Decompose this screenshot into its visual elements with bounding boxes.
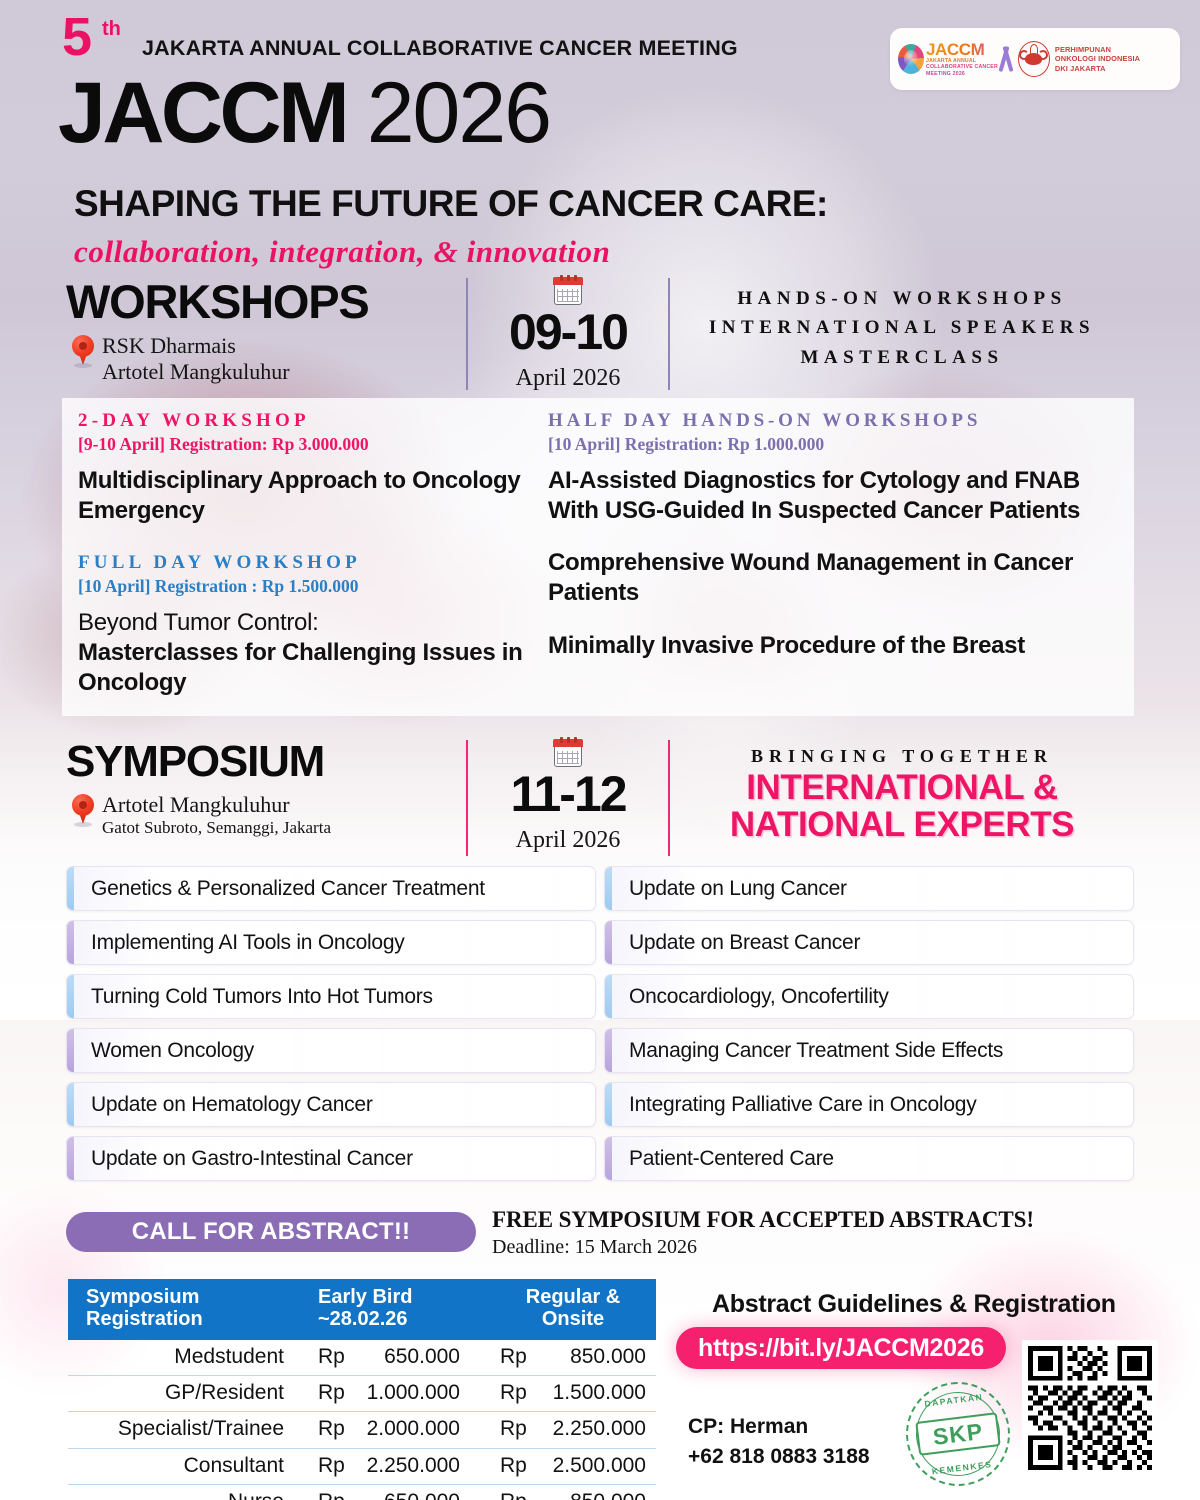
topic-pill[interactable]: Integrating Palliative Care in Oncology	[604, 1082, 1134, 1127]
logo-card: JACCM JAKARTA ANNUAL COLLABORATIVE CANCE…	[890, 28, 1180, 90]
half-day-workshop-registration: [10 April] Registration: Rp 1.000.000	[548, 434, 1118, 456]
abstract-deadline: Deadline: 15 March 2026	[492, 1236, 1034, 1259]
row-regular-currency: Rp	[490, 1376, 536, 1412]
call-for-abstract-note: FREE SYMPOSIUM FOR ACCEPTED ABSTRACTS! D…	[492, 1207, 1034, 1259]
row-regular-amount: 2.250.000	[536, 1412, 656, 1448]
topic-label: Update on Lung Cancer	[619, 877, 847, 901]
row-category: Consultant	[68, 1448, 300, 1484]
full-day-workshop-title: Masterclasses for Challenging Issues in …	[78, 638, 526, 698]
half-day-workshop-label: HALF DAY HANDS-ON WORKSHOPS	[548, 410, 1118, 433]
call-for-abstract-badge[interactable]: CALL FOR ABSTRACT!!	[66, 1212, 476, 1252]
header-category-line2: Registration	[86, 1308, 290, 1330]
two-day-workshop-registration: [9-10 April] Registration: Rp 3.000.000	[78, 434, 526, 456]
symposium-title: SYMPOSIUM	[66, 740, 466, 784]
workshops-highlight-1: INTERNATIONAL SPEAKERS	[670, 313, 1134, 342]
event-tagline: SHAPING THE FUTURE OF CANCER CARE:	[74, 183, 828, 225]
topic-pill[interactable]: Oncocardiology, Oncofertility	[604, 974, 1134, 1019]
topic-label: Patient-Centered Care	[619, 1147, 834, 1171]
workshops-highlight-2: MASTERCLASS	[670, 343, 1134, 372]
header-category-line1: Symposium	[86, 1286, 290, 1308]
full-day-workshop-registration: [10 April] Registration : Rp 1.500.000	[78, 576, 526, 598]
edition-ordinal-suffix: th	[102, 18, 121, 41]
full-day-workshop-label: FULL DAY WORKSHOP	[78, 552, 526, 575]
table-header-early-bird: Early Bird ~28.02.26	[300, 1279, 490, 1340]
table-body: Medstudent Rp 650.000 Rp 850.000 GP/Resi…	[68, 1340, 656, 1500]
jaccm-logo-line3: MEETING 2026	[926, 72, 998, 77]
two-day-workshop-title: Multidisciplinary Approach to Oncology E…	[78, 466, 526, 526]
table-header: Symposium Registration Early Bird ~28.02…	[68, 1279, 656, 1340]
topic-pill[interactable]: Genetics & Personalized Cancer Treatment	[66, 866, 596, 911]
conference-poster: 5 th JAKARTA ANNUAL COLLABORATIVE CANCER…	[0, 0, 1200, 1500]
poi-logo: PERHIMPUNAN ONKOLOGI INDONESIA DKI JAKAR…	[1018, 41, 1140, 77]
symposium-highlights: BRINGING TOGETHER INTERNATIONAL & NATION…	[670, 740, 1134, 856]
row-early-amount: 2.000.000	[346, 1412, 490, 1448]
topic-pill[interactable]: Update on Gastro-Intestinal Cancer	[66, 1136, 596, 1181]
row-regular-currency: Rp	[490, 1448, 536, 1484]
skp-band: SKP	[915, 1412, 1001, 1456]
row-early-currency: Rp	[300, 1484, 346, 1500]
row-early-currency: Rp	[300, 1340, 346, 1376]
free-symposium-text: FREE SYMPOSIUM FOR ACCEPTED ABSTRACTS!	[492, 1207, 1034, 1233]
awareness-ribbon-icon	[1001, 44, 1012, 74]
workshops-right-column: HALF DAY HANDS-ON WORKSHOPS [10 April] R…	[542, 398, 1134, 716]
topic-label: Update on Hematology Cancer	[81, 1093, 373, 1117]
workshops-month-year: April 2026	[468, 365, 668, 392]
topic-pill[interactable]: Update on Hematology Cancer	[66, 1082, 596, 1127]
header-early-line1: Early Bird	[318, 1286, 480, 1308]
skp-stamp-inner: DAPATKAN SKP KEMENKES	[911, 1387, 1005, 1481]
row-category: GP/Resident	[68, 1376, 300, 1412]
topic-label: Implementing AI Tools in Oncology	[81, 931, 405, 955]
row-early-currency: Rp	[300, 1376, 346, 1412]
contact-person-name: CP: Herman	[688, 1412, 870, 1442]
topic-label: Integrating Palliative Care in Oncology	[619, 1093, 976, 1117]
calendar-icon	[554, 278, 582, 305]
contact-person-block: CP: Herman +62 818 0883 3188	[688, 1412, 870, 1473]
qr-code-image	[1028, 1346, 1152, 1470]
row-early-currency: Rp	[300, 1448, 346, 1484]
table-header-row: Symposium Registration Early Bird ~28.02…	[68, 1279, 656, 1340]
table-row: Specialist/Trainee Rp 2.000.000 Rp 2.250…	[68, 1412, 656, 1448]
row-category: Medstudent	[68, 1340, 300, 1376]
header-early-line2: ~28.02.26	[318, 1308, 480, 1330]
row-regular-amount: 2.500.000	[536, 1448, 656, 1484]
crab-icon	[1025, 53, 1042, 65]
workshops-detail-panel: 2-DAY WORKSHOP [9-10 April] Registration…	[62, 398, 1134, 716]
wordmark-year: 2026	[367, 65, 550, 161]
skp-center-text: SKP	[931, 1418, 984, 1451]
row-regular-amount: 850.000	[536, 1340, 656, 1376]
topic-pill[interactable]: Managing Cancer Treatment Side Effects	[604, 1028, 1134, 1073]
row-regular-currency: Rp	[490, 1340, 536, 1376]
location-pin-icon	[72, 335, 94, 365]
symposium-month-year: April 2026	[468, 827, 668, 854]
jaccm-logo-line2: COLLABORATIVE CANCER	[926, 65, 998, 70]
row-regular-amount: 850.000	[536, 1484, 656, 1500]
row-early-amount: 2.250.000	[346, 1448, 490, 1484]
half-day-workshop-item-0: AI-Assisted Diagnostics for Cytology and…	[548, 466, 1118, 526]
skp-top-text: DAPATKAN	[913, 1390, 996, 1410]
row-regular-currency: Rp	[490, 1484, 536, 1500]
row-category: Nurse	[68, 1484, 300, 1500]
event-subtagline: collaboration, integration, & innovation	[74, 234, 610, 270]
registration-price-table: Symposium Registration Early Bird ~28.02…	[68, 1279, 656, 1500]
topic-label: Oncocardiology, Oncofertility	[619, 985, 889, 1009]
jaccm-logo-text: JACCM JAKARTA ANNUAL COLLABORATIVE CANCE…	[926, 41, 998, 77]
table-row: GP/Resident Rp 1.000.000 Rp 1.500.000	[68, 1376, 656, 1412]
poi-line1: PERHIMPUNAN	[1055, 45, 1140, 54]
workshops-date: 09-10	[468, 307, 668, 357]
row-early-amount: 650.000	[346, 1340, 490, 1376]
event-wordmark: JACCM 2026	[58, 70, 550, 156]
workshops-title: WORKSHOPS	[66, 278, 466, 325]
full-day-workshop-subtitle: Beyond Tumor Control:	[78, 608, 526, 638]
topic-label: Update on Breast Cancer	[619, 931, 860, 955]
symposium-experts-line1: INTERNATIONAL &	[670, 769, 1134, 806]
qr-code[interactable]	[1022, 1340, 1158, 1476]
edition-number: 5	[62, 10, 90, 64]
half-day-workshop-item-2: Minimally Invasive Procedure of the Brea…	[548, 631, 1118, 661]
symposium-experts-line2: NATIONAL EXPERTS	[670, 806, 1134, 843]
topic-pill[interactable]: Update on Breast Cancer	[604, 920, 1134, 965]
row-regular-currency: Rp	[490, 1412, 536, 1448]
call-for-abstract-label: CALL FOR ABSTRACT!!	[132, 1218, 410, 1246]
two-day-workshop-block: 2-DAY WORKSHOP [9-10 April] Registration…	[78, 410, 526, 526]
workshops-date-block: 09-10 April 2026	[468, 278, 668, 390]
calendar-icon	[554, 740, 582, 767]
registration-link-button[interactable]: https://bit.ly/JACCM2026	[676, 1327, 1006, 1369]
symposium-date-block: 11-12 April 2026	[468, 740, 668, 856]
symposium-venue: Artotel Mangkuluhur Gatot Subroto, Seman…	[72, 792, 466, 838]
table-header-category: Symposium Registration	[68, 1279, 300, 1340]
topic-pill[interactable]: Women Oncology	[66, 1028, 596, 1073]
symposium-section-header: SYMPOSIUM Artotel Mangkuluhur Gatot Subr…	[66, 740, 1134, 856]
workshops-venue-line2: Artotel Mangkuluhur	[102, 359, 290, 385]
row-category: Specialist/Trainee	[68, 1412, 300, 1448]
topic-label: Update on Gastro-Intestinal Cancer	[81, 1147, 413, 1171]
poi-line3: DKI JAKARTA	[1055, 64, 1140, 73]
symposium-venue-line2: Gatot Subroto, Semanggi, Jakarta	[102, 818, 331, 838]
header-regular-line1: Regular &	[500, 1286, 646, 1308]
abstract-registration-heading: Abstract Guidelines & Registration	[712, 1290, 1116, 1319]
symposium-date: 11-12	[468, 769, 668, 819]
registration-link-label: https://bit.ly/JACCM2026	[698, 1334, 984, 1363]
workshops-title-block: WORKSHOPS RSK Dharmais Artotel Mangkuluh…	[66, 278, 466, 390]
event-kicker: JAKARTA ANNUAL COLLABORATIVE CANCER MEET…	[142, 36, 738, 61]
location-pin-icon	[72, 794, 94, 824]
topic-pill[interactable]: Update on Lung Cancer	[604, 866, 1134, 911]
poi-logo-text: PERHIMPUNAN ONKOLOGI INDONESIA DKI JAKAR…	[1055, 45, 1140, 73]
workshops-left-column: 2-DAY WORKSHOP [9-10 April] Registration…	[62, 398, 542, 716]
row-early-amount: 650.000	[346, 1484, 490, 1500]
table-row: Consultant Rp 2.250.000 Rp 2.500.000	[68, 1448, 656, 1484]
workshops-highlight-0: HANDS-ON WORKSHOPS	[670, 284, 1134, 313]
header-regular-line2: Onsite	[500, 1308, 646, 1330]
globe-icon	[898, 44, 924, 74]
topic-label: Genetics & Personalized Cancer Treatment	[81, 877, 485, 901]
wordmark-acronym: JACCM	[58, 65, 346, 161]
symposium-venue-line1: Artotel Mangkuluhur	[102, 792, 331, 818]
topic-pill[interactable]: Implementing AI Tools in Oncology	[66, 920, 596, 965]
symposium-bringing-together: BRINGING TOGETHER	[670, 746, 1134, 767]
half-day-workshop-item-1: Comprehensive Wound Management in Cancer…	[548, 548, 1118, 608]
topic-label: Women Oncology	[81, 1039, 254, 1063]
workshops-section-header: WORKSHOPS RSK Dharmais Artotel Mangkuluh…	[66, 278, 1134, 390]
topic-pill[interactable]: Patient-Centered Care	[604, 1136, 1134, 1181]
symposium-title-block: SYMPOSIUM Artotel Mangkuluhur Gatot Subr…	[66, 740, 466, 856]
table-row: Medstudent Rp 650.000 Rp 850.000	[68, 1340, 656, 1376]
row-early-currency: Rp	[300, 1412, 346, 1448]
poi-line2: ONKOLOGI INDONESIA	[1055, 54, 1140, 63]
workshops-venue: RSK Dharmais Artotel Mangkuluhur	[72, 333, 466, 385]
workshops-highlights: HANDS-ON WORKSHOPS INTERNATIONAL SPEAKER…	[670, 278, 1134, 390]
full-day-workshop-block: FULL DAY WORKSHOP [10 April] Registratio…	[78, 552, 526, 698]
jaccm-logo: JACCM JAKARTA ANNUAL COLLABORATIVE CANCE…	[898, 41, 1012, 77]
topic-label: Turning Cold Tumors Into Hot Tumors	[81, 985, 433, 1009]
contact-person-phone: +62 818 0883 3188	[688, 1442, 870, 1472]
two-day-workshop-label: 2-DAY WORKSHOP	[78, 410, 526, 433]
table-header-regular: Regular & Onsite	[490, 1279, 656, 1340]
row-regular-amount: 1.500.000	[536, 1376, 656, 1412]
table-row: Nurse Rp 650.000 Rp 850.000	[68, 1484, 656, 1500]
workshops-venue-line1: RSK Dharmais	[102, 333, 290, 359]
row-early-amount: 1.000.000	[346, 1376, 490, 1412]
topic-label: Managing Cancer Treatment Side Effects	[619, 1039, 1003, 1063]
topic-pill[interactable]: Turning Cold Tumors Into Hot Tumors	[66, 974, 596, 1019]
crab-emblem-icon	[1018, 41, 1050, 77]
jaccm-logo-name: JACCM	[926, 41, 998, 58]
symposium-topics-grid: Genetics & Personalized Cancer Treatment…	[66, 866, 1134, 1181]
